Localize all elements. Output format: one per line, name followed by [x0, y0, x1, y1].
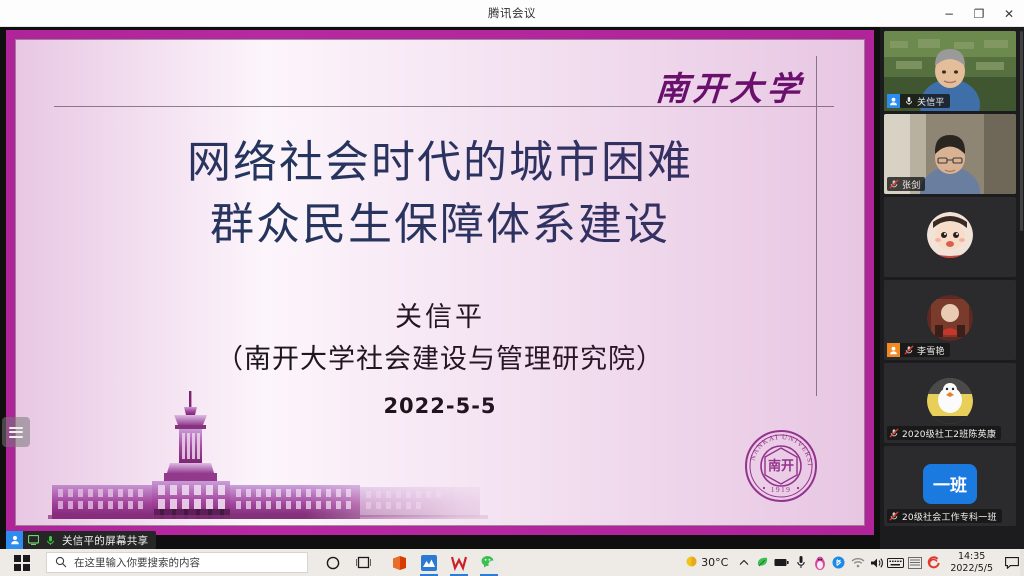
shared-screen-area[interactable]: 南开大学 网络社会时代的城市困难 群众民生保障体系建设 关信平 （南开大学社会建…: [0, 27, 880, 549]
window-controls: − ❐ ✕: [934, 0, 1024, 27]
clock-time: 14:35: [958, 551, 985, 563]
chevron-up-icon[interactable]: [734, 549, 753, 576]
windows-taskbar: 在这里输入你要搜索的内容: [0, 549, 1024, 576]
participant-tile[interactable]: 正在讲话: 关信平;: [884, 197, 1016, 277]
screen-share-badge: 关信平的屏幕共享: [6, 531, 156, 549]
participant-panel-scrollbar[interactable]: [1020, 31, 1023, 231]
task-view-icon[interactable]: [348, 549, 378, 576]
participant-name: 张剑: [902, 178, 920, 191]
participant-tile[interactable]: 关信平: [884, 31, 1016, 111]
nankai-building-illustration: [34, 389, 554, 519]
search-input[interactable]: 在这里输入你要搜索的内容: [46, 552, 308, 573]
participant-name-bar: 关信平: [887, 94, 950, 108]
weather-widget[interactable]: 30°C: [679, 555, 734, 571]
participant-name: 20级社会工作专科一班: [902, 510, 997, 523]
sogou-icon[interactable]: [924, 549, 943, 576]
slide-title-block: 网络社会时代的城市困难 群众民生保障体系建设: [16, 132, 864, 257]
wps-icon[interactable]: [444, 549, 474, 576]
wifi-icon[interactable]: [848, 549, 867, 576]
screen-share-label: 关信平的屏幕共享: [62, 533, 148, 548]
maximize-button[interactable]: ❐: [964, 0, 994, 27]
screen-share-icon: [26, 531, 40, 549]
minimize-button[interactable]: −: [934, 0, 964, 27]
mic-off-icon: [902, 343, 915, 357]
wechat-icon[interactable]: [474, 549, 504, 576]
participant-name: 李雪艳: [917, 344, 945, 357]
mic-on-icon: [902, 94, 915, 108]
svg-text:1919: 1919: [771, 485, 792, 494]
mic-on-icon: [43, 531, 57, 549]
search-placeholder: 在这里输入你要搜索的内容: [74, 555, 200, 570]
ime-icon[interactable]: [905, 549, 924, 576]
participant-name-bar: 张剑: [887, 177, 925, 191]
avatar: 一班: [923, 464, 977, 504]
system-tray: 30°C: [679, 549, 1024, 576]
slide-title-line-1: 网络社会时代的城市困难: [16, 132, 864, 194]
penguin-icon[interactable]: [810, 549, 829, 576]
search-icon: [55, 553, 67, 572]
window-title-bar: 腾讯会议 − ❐ ✕: [0, 0, 1024, 27]
sun-icon: [685, 555, 698, 571]
office-icon[interactable]: [384, 549, 414, 576]
battery-icon[interactable]: [772, 549, 791, 576]
hamburger-menu-icon[interactable]: [2, 417, 30, 447]
slide-author-name: 关信平: [16, 298, 864, 339]
participant-name-bar: 2020级社工2班陈英康: [887, 426, 1001, 440]
nankai-university-seal: NANKAI UNIVERSITY 南开 1919: [744, 429, 818, 503]
host-person-icon: [887, 94, 900, 108]
participant-name-bar: 李雪艳: [887, 343, 950, 357]
bluetooth-icon[interactable]: [829, 549, 848, 576]
slide-author-organization: （南开大学社会建设与管理研究院）: [16, 339, 864, 381]
avatar: [927, 378, 973, 424]
participant-tile[interactable]: 2020级社工2班陈英康: [884, 363, 1016, 443]
meeting-stage: 南开大学 网络社会时代的城市困难 群众民生保障体系建设 关信平 （南开大学社会建…: [0, 27, 1024, 549]
window-title: 腾讯会议: [488, 5, 536, 21]
mic-off-icon: [887, 426, 900, 440]
show-desktop-button[interactable]: [1020, 549, 1024, 576]
svg-text:南开: 南开: [768, 458, 794, 474]
participant-tile[interactable]: 张剑: [884, 114, 1016, 194]
avatar: [927, 212, 973, 258]
nankai-wordmark: 南开大学: [654, 62, 805, 110]
volume-icon[interactable]: [867, 549, 886, 576]
weather-temperature: 30°C: [701, 556, 728, 569]
slide-title-line-2: 群众民生保障体系建设: [16, 194, 864, 256]
clock[interactable]: 14:35 2022/5/5: [943, 549, 1000, 576]
usb-device-icon[interactable]: [791, 549, 810, 576]
close-button[interactable]: ✕: [994, 0, 1024, 27]
participant-tile[interactable]: 一班 20级社会工作专科一班: [884, 446, 1016, 526]
avatar-text: 一班: [933, 476, 967, 496]
participant-name: 关信平: [917, 95, 945, 108]
mic-off-icon: [887, 177, 900, 191]
cortana-icon[interactable]: [318, 549, 348, 576]
app-blue-icon[interactable]: [414, 549, 444, 576]
windows-start-icon[interactable]: [0, 549, 44, 576]
leaf-green-icon[interactable]: [753, 549, 772, 576]
keyboard-icon[interactable]: [886, 549, 905, 576]
hamburger-bars: [9, 424, 23, 440]
presentation-slide: 南开大学 网络社会时代的城市困难 群众民生保障体系建设 关信平 （南开大学社会建…: [15, 39, 865, 526]
participant-tile[interactable]: 李雪艳: [884, 280, 1016, 360]
cohost-person-icon: [887, 343, 900, 357]
mic-off-icon: [887, 509, 900, 523]
avatar: [927, 295, 973, 341]
person-icon: [6, 531, 23, 549]
participant-name: 2020级社工2班陈英康: [902, 427, 996, 440]
participant-name-bar: 20级社会工作专科一班: [887, 509, 1002, 523]
clock-date: 2022/5/5: [950, 563, 993, 575]
slide-frame: 南开大学 网络社会时代的城市困难 群众民生保障体系建设 关信平 （南开大学社会建…: [6, 30, 874, 535]
participant-panel[interactable]: 关信平: [880, 27, 1024, 549]
